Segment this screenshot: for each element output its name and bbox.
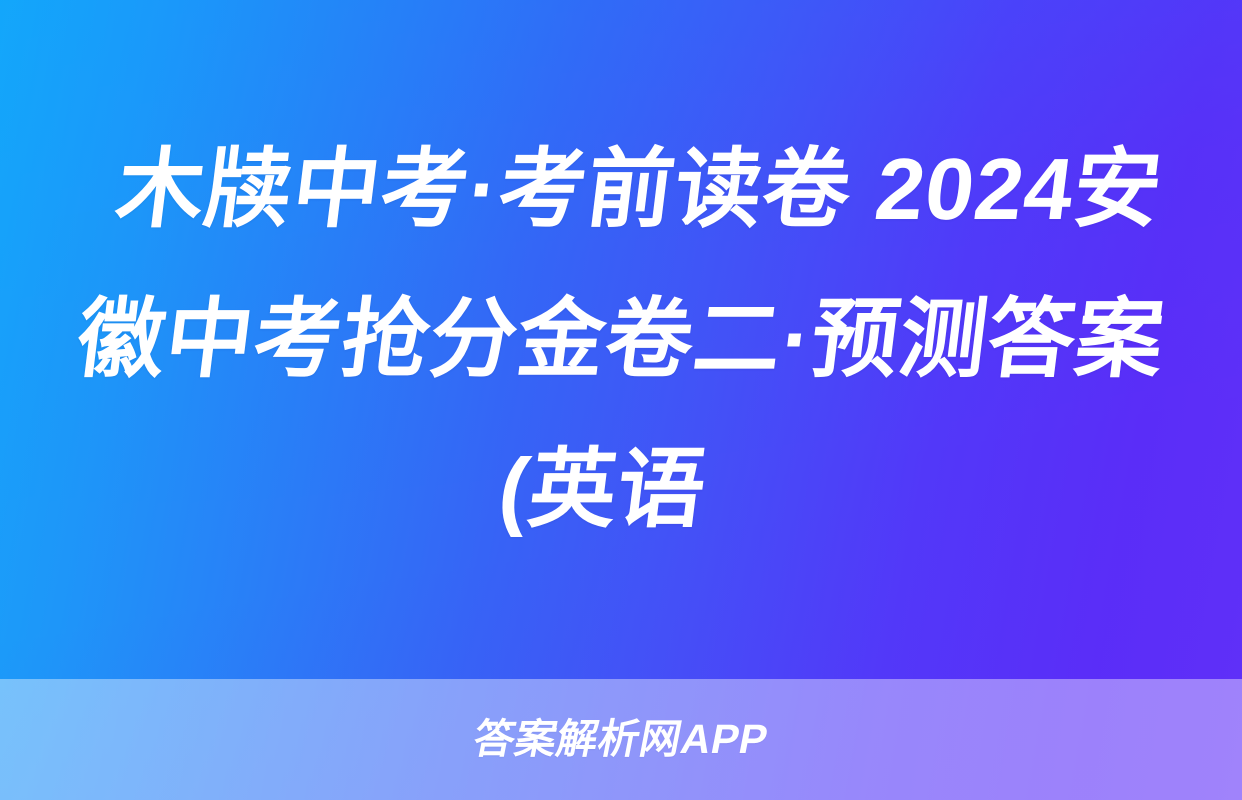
- banner-title: 木牍中考·考前读卷 2024安徽中考抢分金卷二·预测答案(英语: [30, 115, 1211, 565]
- footer-watermark-text: 答案解析网APP: [470, 719, 771, 760]
- footer-watermark-bar: 答案解析网APP: [0, 679, 1242, 800]
- banner-image: 木牍中考·考前读卷 2024安徽中考抢分金卷二·预测答案(英语 答案解析网APP: [0, 0, 1242, 800]
- title-block: 木牍中考·考前读卷 2024安徽中考抢分金卷二·预测答案(英语: [0, 0, 1242, 679]
